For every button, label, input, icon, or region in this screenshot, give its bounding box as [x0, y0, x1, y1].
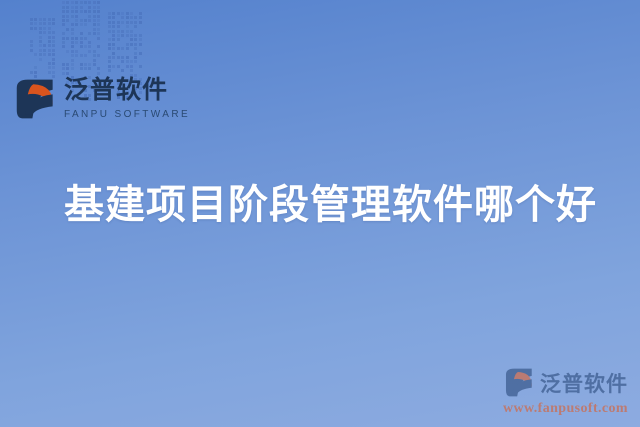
fanpu-swoosh-logo-icon	[14, 76, 60, 122]
brand-name-en: FANPU SOFTWARE	[64, 108, 190, 121]
watermark-url: www.fanpusoft.com	[480, 401, 628, 417]
brand-name-cn: 泛普软件	[64, 77, 190, 105]
watermark: 泛普软件 www.fanpusoft.com	[480, 366, 628, 417]
brand-logo-text: 泛普软件 FANPU SOFTWARE	[64, 77, 190, 121]
page-title: 基建项目阶段管理软件哪个好	[64, 182, 597, 228]
watermark-logo-row: 泛普软件	[480, 366, 628, 399]
pixel-city-skyline-icon	[24, 0, 154, 78]
promo-banner: 泛普软件 FANPU SOFTWARE 基建项目阶段管理软件哪个好 泛普软件 w…	[0, 0, 640, 427]
fanpu-swoosh-logo-icon	[504, 366, 537, 399]
brand-logo: 泛普软件 FANPU SOFTWARE	[14, 76, 190, 122]
watermark-brand-name: 泛普软件	[540, 368, 628, 398]
